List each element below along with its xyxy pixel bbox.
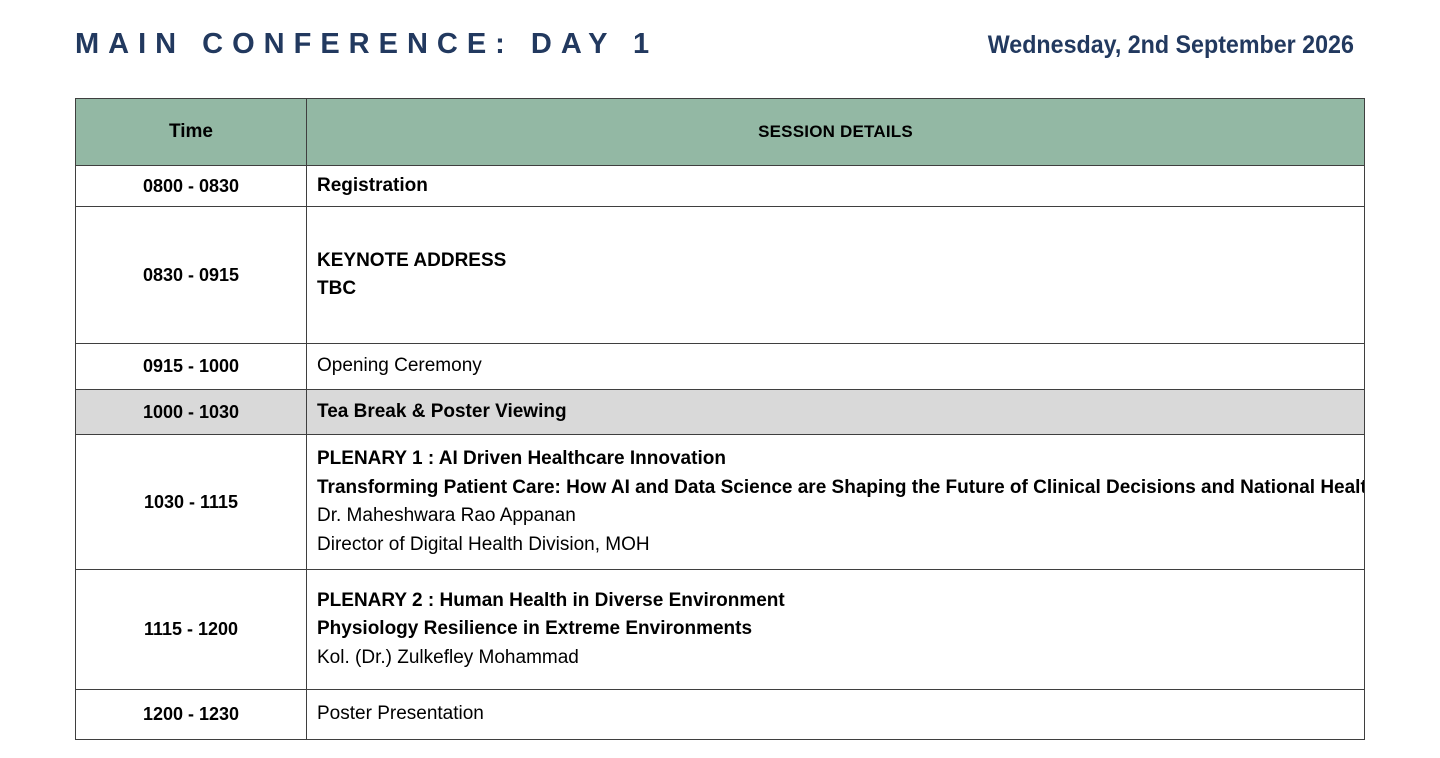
session-details-cell: PLENARY 1 : AI Driven Healthcare Innovat… <box>307 435 1365 570</box>
session-detail-line: Director of Digital Health Division, MOH <box>317 531 1364 560</box>
page-title: MAIN CONFERENCE: DAY 1 <box>75 30 658 59</box>
session-detail-line: TBC <box>317 275 1364 304</box>
session-details-cell: Opening Ceremony <box>307 344 1365 390</box>
session-details-cell: PLENARY 2 : Human Health in Diverse Envi… <box>307 570 1365 690</box>
session-time-cell: 0915 - 1000 <box>76 344 307 390</box>
session-details-lines: Registration <box>317 172 1364 201</box>
session-details-lines: PLENARY 2 : Human Health in Diverse Envi… <box>317 587 1364 673</box>
session-detail-line: Poster Presentation <box>317 700 1364 729</box>
page-header: MAIN CONFERENCE: DAY 1 Wednesday, 2nd Se… <box>75 30 1368 78</box>
table-body: 0800 - 0830Registration0830 - 0915KEYNOT… <box>76 166 1365 740</box>
session-detail-line: Transforming Patient Care: How AI and Da… <box>317 474 1364 503</box>
session-detail-line: Physiology Resilience in Extreme Environ… <box>317 615 1364 644</box>
session-details-lines: PLENARY 1 : AI Driven Healthcare Innovat… <box>317 445 1364 559</box>
conference-schedule-page: MAIN CONFERENCE: DAY 1 Wednesday, 2nd Se… <box>0 0 1440 758</box>
schedule-table: Time SESSION DETAILS 0800 - 0830Registra… <box>75 98 1365 740</box>
table-row: 0800 - 0830Registration <box>76 166 1365 207</box>
session-detail-line: Tea Break & Poster Viewing <box>317 398 1364 427</box>
session-details-cell: Poster Presentation <box>307 690 1365 740</box>
table-row: 0830 - 0915KEYNOTE ADDRESSTBC <box>76 207 1365 344</box>
session-detail-line: PLENARY 2 : Human Health in Diverse Envi… <box>317 587 1364 616</box>
session-time-cell: 1115 - 1200 <box>76 570 307 690</box>
session-time-cell: 1030 - 1115 <box>76 435 307 570</box>
session-details-lines: Opening Ceremony <box>317 352 1364 381</box>
table-row: 1200 - 1230Poster Presentation <box>76 690 1365 740</box>
session-details-cell: Registration <box>307 166 1365 207</box>
session-details-lines: Tea Break & Poster Viewing <box>317 398 1364 427</box>
column-header-session-details: SESSION DETAILS <box>307 99 1365 166</box>
session-detail-line: Opening Ceremony <box>317 352 1364 381</box>
session-detail-line: Dr. Maheshwara Rao Appanan <box>317 502 1364 531</box>
table-row: 1115 - 1200PLENARY 2 : Human Health in D… <box>76 570 1365 690</box>
table-row: 1030 - 1115PLENARY 1 : AI Driven Healthc… <box>76 435 1365 570</box>
table-row: 0915 - 1000Opening Ceremony <box>76 344 1365 390</box>
session-details-lines: KEYNOTE ADDRESSTBC <box>317 247 1364 304</box>
table-header-row: Time SESSION DETAILS <box>76 99 1365 166</box>
session-detail-line: KEYNOTE ADDRESS <box>317 247 1364 276</box>
conference-date: Wednesday, 2nd September 2026 <box>988 33 1354 58</box>
column-header-time: Time <box>76 99 307 166</box>
session-time-cell: 1200 - 1230 <box>76 690 307 740</box>
session-detail-line: PLENARY 1 : AI Driven Healthcare Innovat… <box>317 445 1364 474</box>
table-header: Time SESSION DETAILS <box>76 99 1365 166</box>
session-details-cell: Tea Break & Poster Viewing <box>307 390 1365 435</box>
session-detail-line: Kol. (Dr.) Zulkefley Mohammad <box>317 644 1364 673</box>
session-time-cell: 1000 - 1030 <box>76 390 307 435</box>
session-details-cell: KEYNOTE ADDRESSTBC <box>307 207 1365 344</box>
session-time-cell: 0830 - 0915 <box>76 207 307 344</box>
table-row: 1000 - 1030Tea Break & Poster Viewing <box>76 390 1365 435</box>
session-detail-line: Registration <box>317 172 1364 201</box>
session-details-lines: Poster Presentation <box>317 700 1364 729</box>
session-time-cell: 0800 - 0830 <box>76 166 307 207</box>
